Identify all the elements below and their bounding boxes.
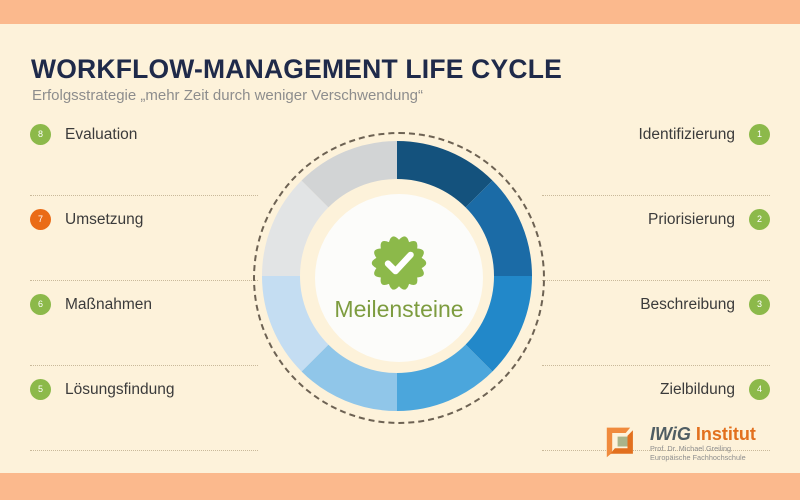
check-seal-icon: [370, 234, 428, 292]
list-item[interactable]: 8 Evaluation: [30, 112, 258, 197]
stage-label: Evaluation: [65, 126, 137, 144]
list-item[interactable]: 2 Priorisierung: [542, 197, 770, 282]
page-subtitle: Erfolgsstrategie „mehr Zeit durch wenige…: [32, 87, 423, 104]
stage-number-badge[interactable]: 6: [30, 294, 51, 315]
row-separator: [30, 450, 258, 452]
infographic-canvas: WORKFLOW-MANAGEMENT LIFE CYCLE Erfolgsst…: [0, 0, 800, 500]
logo-name-iwig: IWiG: [650, 424, 691, 444]
logo-subline-professor: Prof. Dr. Michael Greiling: [650, 444, 756, 453]
stage-label: Umsetzung: [65, 211, 143, 229]
stage-number-badge[interactable]: 4: [749, 379, 770, 400]
list-item[interactable]: 3 Beschreibung: [542, 282, 770, 367]
stage-number-badge[interactable]: 3: [749, 294, 770, 315]
bottom-accent-band: [0, 473, 800, 500]
list-item[interactable]: 1 Identifizierung: [542, 112, 770, 197]
donut-center-label: Meilensteine: [334, 296, 463, 323]
list-item[interactable]: 7 Umsetzung: [30, 197, 258, 282]
list-item[interactable]: 5 Lösungsfindung: [30, 367, 258, 452]
page-title: WORKFLOW-MANAGEMENT LIFE CYCLE: [31, 54, 562, 85]
life-cycle-donut-chart: Meilensteine: [253, 132, 547, 426]
stage-label: Beschreibung: [640, 296, 735, 314]
iwig-logo[interactable]: IWiG Institut Prof. Dr. Michael Greiling…: [605, 424, 756, 462]
logo-subline-school: Europäische Fachhochschule: [650, 453, 756, 462]
right-stage-list: 1 Identifizierung 2 Priorisierung 3 Besc…: [542, 112, 770, 452]
stage-label: Priorisierung: [648, 211, 735, 229]
stage-label: Zielbildung: [660, 381, 735, 399]
left-stage-list: 8 Evaluation 7 Umsetzung 6 Maßnahmen 5 L…: [30, 112, 258, 452]
stage-number-badge[interactable]: 8: [30, 124, 51, 145]
logo-name-institut: Institut: [696, 424, 756, 444]
stage-number-badge[interactable]: 1: [749, 124, 770, 145]
stage-number-badge[interactable]: 2: [749, 209, 770, 230]
stage-number-badge[interactable]: 7: [30, 209, 51, 230]
stage-label: Maßnahmen: [65, 296, 152, 314]
stage-number-badge[interactable]: 5: [30, 379, 51, 400]
top-accent-band: [0, 0, 800, 24]
donut-center: Meilensteine: [315, 194, 483, 362]
stage-label: Identifizierung: [638, 126, 735, 144]
iwig-logo-mark-icon: [605, 424, 641, 460]
stage-label: Lösungsfindung: [65, 381, 174, 399]
list-item[interactable]: 6 Maßnahmen: [30, 282, 258, 367]
